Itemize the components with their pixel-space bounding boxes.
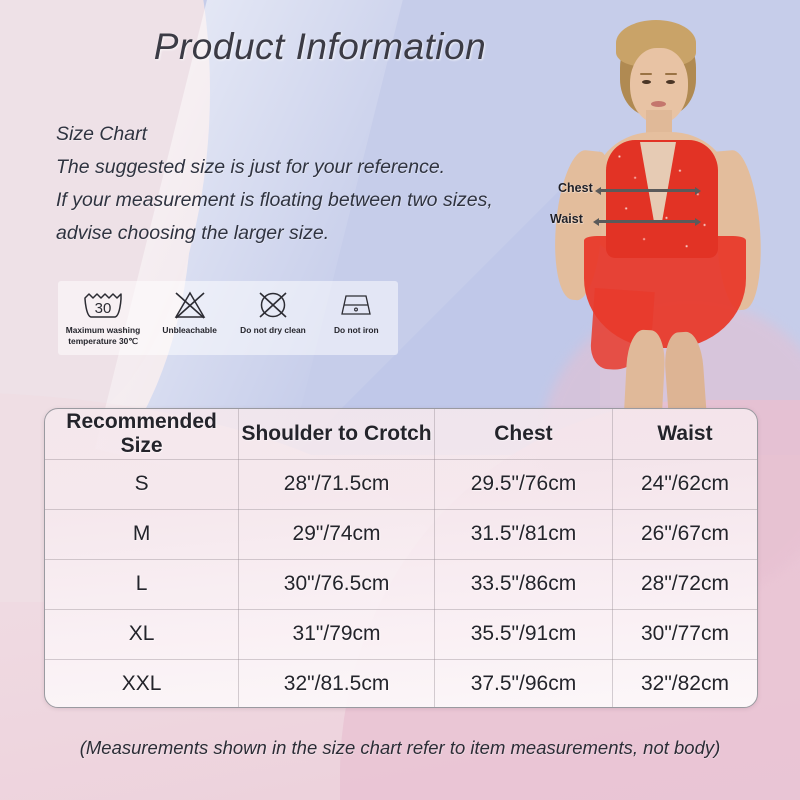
column-header-shoulder-to-crotch: Shoulder to Crotch — [239, 409, 435, 459]
footer-note: (Measurements shown in the size chart re… — [0, 737, 800, 759]
table-row: XXL 32"/81.5cm 37.5"/96cm 32"/82cm — [45, 659, 757, 708]
cell-size: XXL — [45, 659, 239, 708]
care-instructions-panel: 30 Maximum washing temperature 30℃ Unble… — [58, 281, 398, 355]
model-lips — [651, 101, 666, 107]
care-label-washing: Maximum washing temperature 30℃ — [66, 325, 140, 346]
table-row: XL 31"/79cm 35.5"/91cm 30"/77cm — [45, 609, 757, 659]
cell-waist: 32"/82cm — [612, 659, 757, 708]
care-item-bleach: Unbleachable — [148, 288, 231, 336]
care-item-washing: 30 Maximum washing temperature 30℃ — [58, 288, 148, 346]
cell-size: S — [45, 459, 239, 509]
chest-measurement-label: Chest — [558, 181, 593, 195]
cell-waist: 24"/62cm — [612, 459, 757, 509]
cell-chest: 33.5"/86cm — [434, 559, 612, 609]
size-chart-table: Recommended Size Shoulder to Crotch Ches… — [44, 408, 758, 708]
column-header-waist: Waist — [612, 409, 757, 459]
intro-line-size-chart: Size Chart — [56, 118, 556, 151]
model-leg-right — [663, 331, 707, 410]
care-label-iron: Do not iron — [334, 325, 379, 336]
column-header-recommended-size: Recommended Size — [45, 409, 239, 459]
care-item-iron: Do not iron — [315, 288, 398, 336]
wash-temp-value: 30 — [95, 300, 112, 317]
cell-shoulder-to-crotch: 29"/74cm — [239, 509, 435, 559]
table-header-row: Recommended Size Shoulder to Crotch Ches… — [45, 409, 757, 459]
no-dry-clean-circle-icon — [257, 288, 289, 322]
cell-size: M — [45, 509, 239, 559]
cell-chest: 35.5"/91cm — [434, 609, 612, 659]
cell-waist: 30"/77cm — [612, 609, 757, 659]
column-header-chest: Chest — [434, 409, 612, 459]
cell-shoulder-to-crotch: 31"/79cm — [239, 609, 435, 659]
model-eyebrow-right — [665, 73, 677, 75]
cell-chest: 37.5"/96cm — [434, 659, 612, 708]
no-bleach-triangle-icon — [173, 288, 207, 322]
waist-measurement-label: Waist — [550, 212, 583, 226]
table-row: L 30"/76.5cm 33.5"/86cm 28"/72cm — [45, 559, 757, 609]
cell-waist: 26"/67cm — [612, 509, 757, 559]
care-label-dry-clean: Do not dry clean — [240, 325, 306, 336]
intro-line-reference: The suggested size is just for your refe… — [56, 151, 556, 184]
intro-line-larger: advise choosing the larger size. — [56, 217, 556, 250]
chest-measurement-line — [600, 189, 696, 192]
model-eyebrow-left — [640, 73, 652, 75]
cell-size: L — [45, 559, 239, 609]
cell-shoulder-to-crotch: 32"/81.5cm — [239, 659, 435, 708]
model-eye-left — [642, 80, 651, 84]
cell-shoulder-to-crotch: 28"/71.5cm — [239, 459, 435, 509]
product-information-page: Product Information Size Chart The sugge… — [0, 0, 800, 800]
cell-chest: 29.5"/76cm — [434, 459, 612, 509]
table-row: M 29"/74cm 31.5"/81cm 26"/67cm — [45, 509, 757, 559]
care-item-dry-clean: Do not dry clean — [231, 288, 314, 336]
no-iron-icon — [337, 288, 375, 322]
cell-waist: 28"/72cm — [612, 559, 757, 609]
model-eye-right — [666, 80, 675, 84]
model-photo — [520, 0, 800, 410]
intro-line-floating: If your measurement is floating between … — [56, 184, 556, 217]
cell-shoulder-to-crotch: 30"/76.5cm — [239, 559, 435, 609]
waist-measurement-line — [598, 220, 696, 223]
intro-text-block: Size Chart The suggested size is just fo… — [56, 118, 556, 250]
table-row: S 28"/71.5cm 29.5"/76cm 24"/62cm — [45, 459, 757, 509]
cell-chest: 31.5"/81cm — [434, 509, 612, 559]
wash-tub-30-icon: 30 — [81, 288, 125, 322]
cell-size: XL — [45, 609, 239, 659]
care-label-bleach: Unbleachable — [162, 325, 216, 336]
